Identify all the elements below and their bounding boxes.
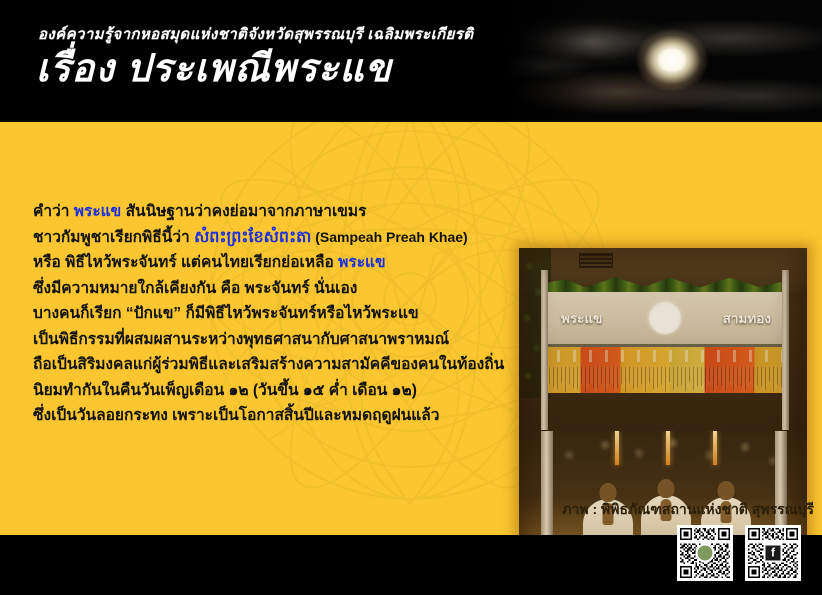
head xyxy=(658,479,675,498)
body-line: ชาวกัมพูชาเรียกพิธีนี้ว่า សំពះព្រះខែសំពះ… xyxy=(33,225,503,251)
night-sky-moon-image xyxy=(500,0,822,122)
curtain-pattern xyxy=(541,350,789,362)
support-pole xyxy=(782,270,789,430)
photo-image: พระแข สามทอง xyxy=(519,248,807,535)
body-text: ชาวกัมพูชาเรียกพิธีนี้ว่า xyxy=(33,229,194,246)
romanization-text: (Sampeah Preah Khae) xyxy=(311,229,467,245)
library-seal-icon xyxy=(696,544,715,563)
body-text: หรือ พิธีไหว้พระจันทร์ แต่คนไทยเรียกย่อเ… xyxy=(33,254,338,271)
body-line: ถือเป็นสิริมงคลแก่ผู้ร่วมพิธีและเสริมสร้… xyxy=(33,352,503,378)
banner-text-left: พระแข xyxy=(561,307,602,329)
body-line: นิยมทำกันในคืนวันเพ็ญเดือน ๑๒ (วันขึ้น ๑… xyxy=(33,378,503,404)
candle-icon xyxy=(713,431,717,465)
head xyxy=(718,481,735,500)
body-line: บางคนก็เรียก “ปักแข” ก็มีพิธีไหว้พระจันท… xyxy=(33,301,503,327)
qr-facebook[interactable]: f xyxy=(745,525,801,581)
khmer-script-text: សំពះព្រះខែសំពះតា xyxy=(194,229,311,246)
page-title: เรื่อง ประเพณีพระแข xyxy=(36,48,392,92)
body-text: คำว่า xyxy=(33,203,74,220)
body-line: หรือ พิธีไหว้พระจันทร์ แต่คนไทยเรียกย่อเ… xyxy=(33,250,503,276)
decorative-curtain xyxy=(541,347,789,393)
candle-icon xyxy=(666,431,670,465)
photo-caption: ภาพ : พิพิธภัณฑสถานแห่งชาติ สุพรรณบุรี xyxy=(524,499,814,521)
keyword-phrakhae: พระแข xyxy=(74,203,121,220)
body-line: คำว่า พระแข สันนิษฐานว่าคงย่อมาจากภาษาเข… xyxy=(33,199,503,225)
ceremony-banner: พระแข สามทอง xyxy=(541,292,789,347)
poster-canvas: องค์ความรู้จากหอสมุดแห่งชาติจังหวัดสุพรร… xyxy=(0,0,822,595)
body-line: ซึ่งมีความหมายใกล้เคียงกัน คือ พระจันทร์… xyxy=(33,276,503,302)
header-band: องค์ความรู้จากหอสมุดแห่งชาติจังหวัดสุพรร… xyxy=(0,0,822,122)
moon-disc-icon xyxy=(649,302,681,334)
header-kicker: องค์ความรู้จากหอสมุดแห่งชาติจังหวัดสุพรร… xyxy=(38,22,473,46)
body-copy: คำว่า พระแข สันนิษฐานว่าคงย่อมาจากภาษาเข… xyxy=(33,199,503,429)
qr-organization[interactable] xyxy=(677,525,733,581)
footer-band: f xyxy=(0,535,822,595)
keyword-phrakhae: พระแข xyxy=(338,254,385,271)
ceremony-photo: พระแข สามทอง xyxy=(519,248,807,535)
candle-icon xyxy=(615,431,619,465)
vent-grille xyxy=(579,253,613,268)
photo-upper-scene: พระแข สามทอง xyxy=(519,248,807,431)
banner-text-right: สามทอง xyxy=(723,307,771,329)
content-area: คำว่า พระแข สันนิษฐานว่าคงย่อมาจากภาษาเข… xyxy=(0,122,822,535)
body-text: สันนิษฐานว่าคงย่อมาจากภาษาเขมร xyxy=(121,203,366,220)
support-pole xyxy=(541,270,548,430)
body-line: เป็นพิธีกรรมที่ผสมผสานระหว่างพุทธศาสนากั… xyxy=(33,327,503,353)
body-line: ซึ่งเป็นวันลอยกระทง เพราะเป็นโอกาสสิ้นปี… xyxy=(33,403,503,429)
facebook-icon: f xyxy=(764,544,783,563)
